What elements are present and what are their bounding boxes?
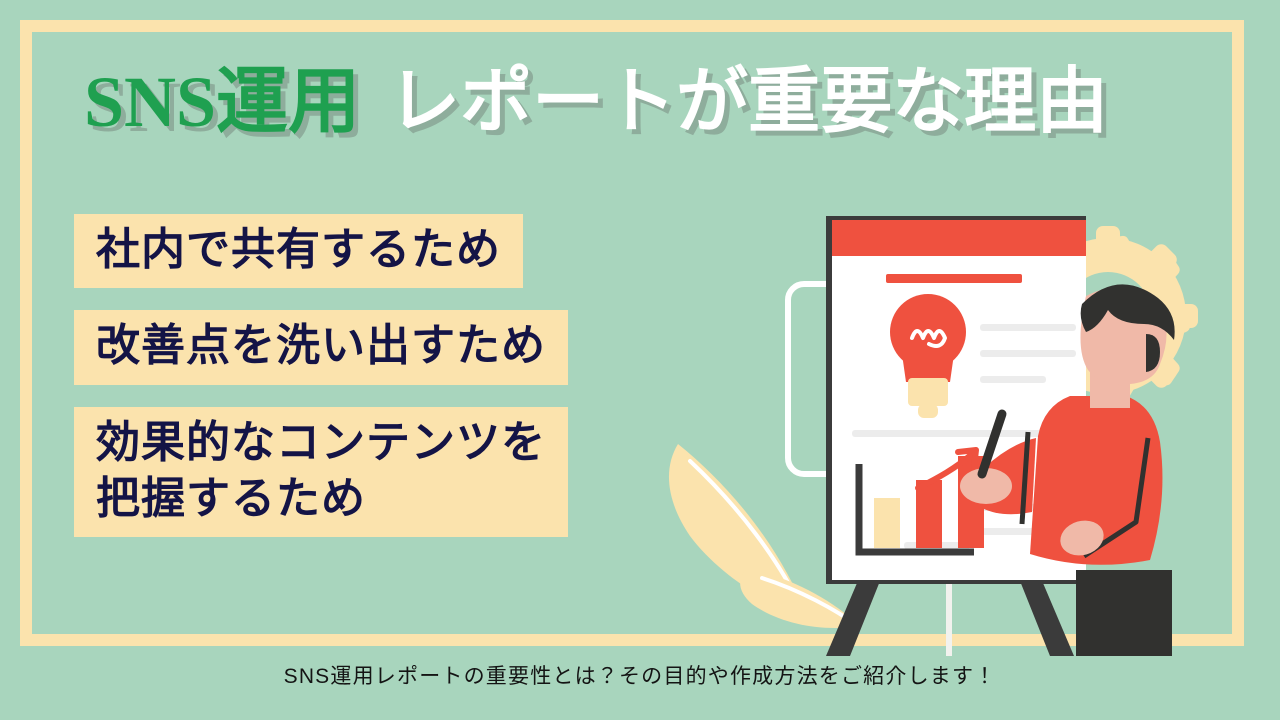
- bullet-list: 社内で共有するため 改善点を洗い出すため 効果的なコンテンツを 把握するため: [74, 214, 568, 559]
- illustration-presentation-scene: [630, 186, 1250, 656]
- bullet-item-1: 社内で共有するため: [74, 214, 523, 288]
- footer-caption: SNS運用レポートの重要性とは？その目的や作成方法をご紹介します！: [0, 660, 1280, 690]
- bullet-item-3: 効果的なコンテンツを 把握するため: [74, 407, 568, 538]
- infographic-canvas: SNS運用 レポートが重要な理由 社内で共有するため 改善点を洗い出すため 効果…: [0, 0, 1280, 720]
- chart-bar-1: [874, 498, 900, 548]
- title-rest: レポートが重要な理由: [388, 66, 1108, 138]
- bullet-item-2: 改善点を洗い出すため: [74, 310, 568, 384]
- easel-legs: [826, 576, 1074, 656]
- page-title: SNS運用 レポートが重要な理由: [84, 66, 1108, 138]
- title-highlight: SNS運用: [84, 66, 360, 138]
